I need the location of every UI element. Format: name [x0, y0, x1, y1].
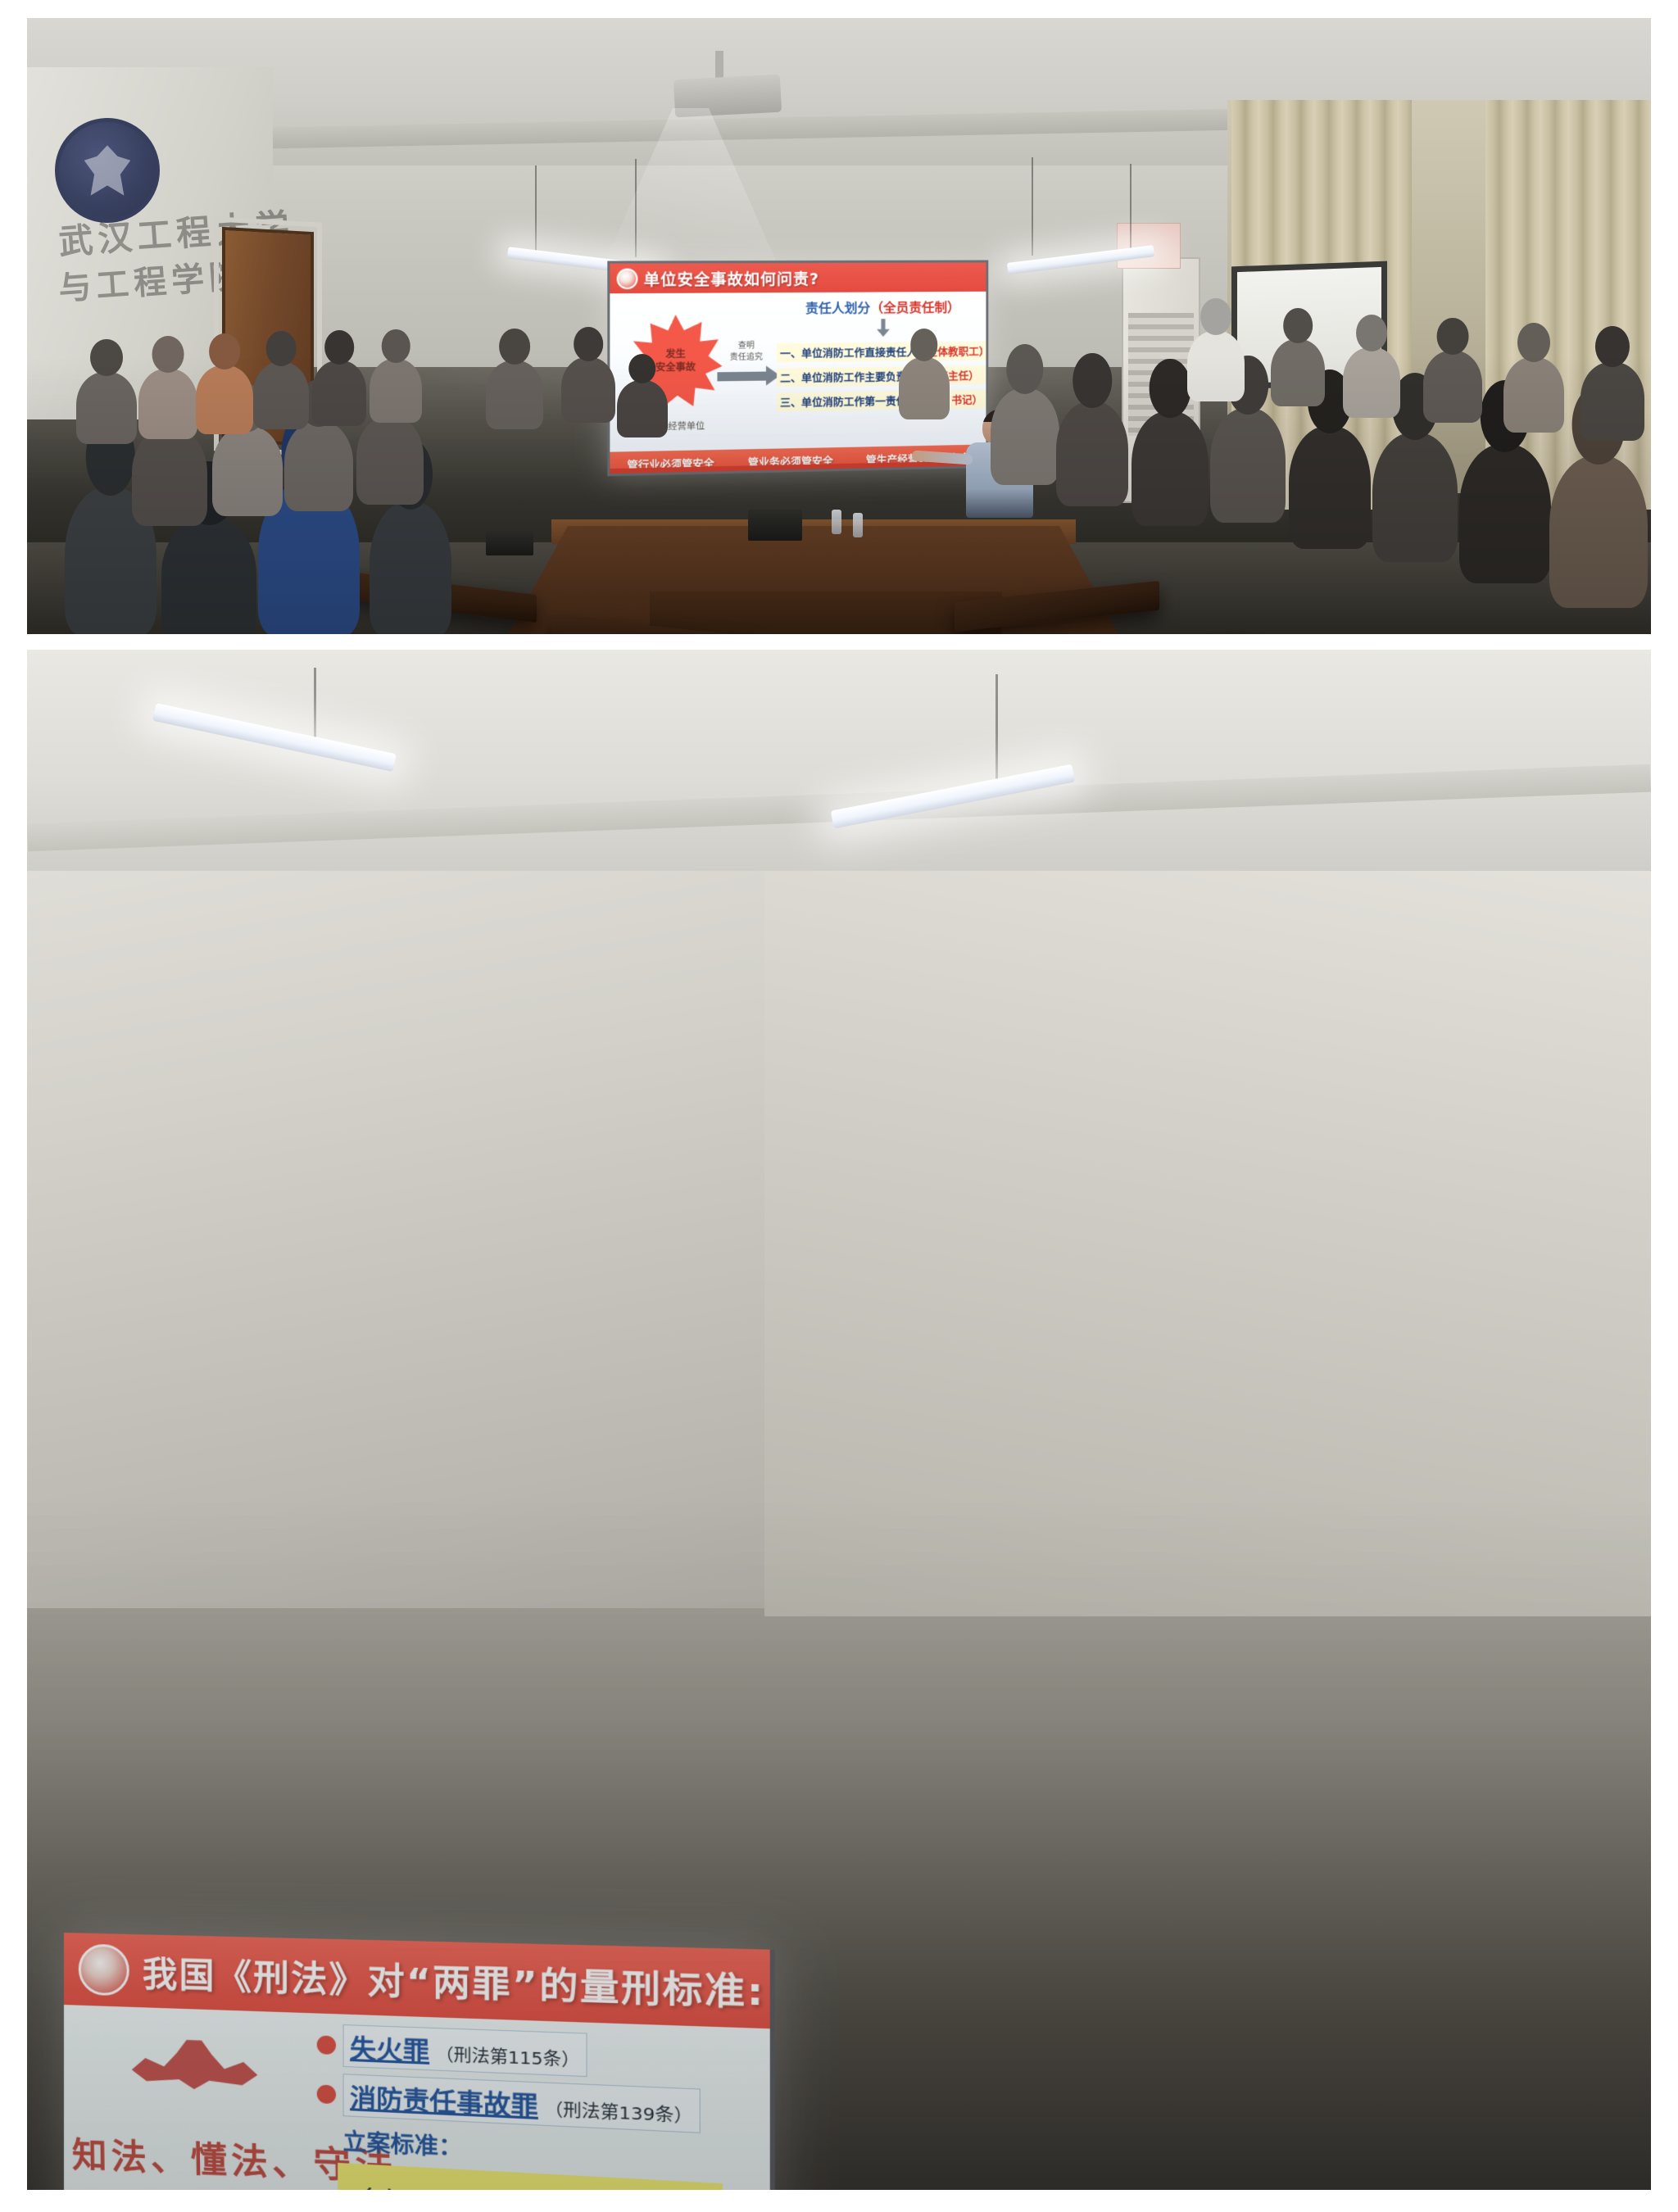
bullet-dot-icon: [317, 2035, 336, 2055]
burst-line-1: 发生: [665, 348, 686, 361]
audience-member: [132, 428, 207, 526]
item-index: 二、: [780, 373, 801, 385]
bullet-dot-icon: [317, 2084, 336, 2104]
crime-box: 失火罪 （刑法第115条）: [343, 2024, 587, 2077]
slide-body: 知法、懂法、守法 失火罪 （刑法第115条） 消防责任事故罪: [64, 2005, 770, 2190]
crime-name: 失火罪: [350, 2027, 429, 2068]
crime-law: （刑法第115条）: [436, 2041, 580, 2072]
audience-member: [1580, 362, 1644, 441]
red-seal-icon: [132, 2030, 258, 2112]
audience-member: [370, 501, 451, 634]
audience-member: [561, 357, 615, 423]
heading-main: 责任人划分: [805, 300, 870, 315]
fire-emblem-icon: [617, 268, 638, 289]
audience-member: [284, 421, 353, 511]
slide-title-bar: 单位安全事故如何问责?: [610, 262, 986, 293]
audience-member: [212, 426, 283, 516]
list-item: 二、单位消防工作主要负责人（分管主任）: [777, 365, 987, 387]
slide-title: 单位安全事故如何问责?: [644, 266, 819, 289]
burst-line-2: 安全事故: [655, 360, 696, 374]
water-bottle: [832, 510, 841, 534]
list-item: 一、单位消防工作直接责任人（全体教职工）: [777, 342, 987, 363]
audience-member: [196, 365, 253, 434]
audience-member: [899, 357, 950, 419]
audience-member: [1372, 433, 1458, 562]
audience-member: [1549, 456, 1648, 608]
audience-member: [617, 380, 668, 437]
audience-member: [1343, 347, 1400, 418]
audience-member: [1503, 357, 1564, 433]
right-wall: [764, 797, 1651, 1616]
audience-member: [138, 369, 197, 439]
audience-member: [1187, 331, 1245, 401]
audience-member: [253, 362, 309, 429]
audience-member: [1423, 351, 1482, 423]
crime-panel: 失火罪 （刑法第115条） 消防责任事故罪 （刑法第139条） 立案标准： （1: [317, 2024, 769, 2190]
monitor: [486, 531, 533, 555]
crime-box: 消防责任事故罪 （刑法第139条）: [343, 2074, 701, 2133]
arrow-label: 查明 责任追究: [720, 340, 771, 364]
lamp-wire: [314, 668, 316, 746]
university-crest-icon: [55, 118, 160, 223]
list-heading: 责任人划分（全员责任制）: [777, 297, 987, 318]
list-item: 三、单位消防工作第一责任人（院长 书记）: [777, 390, 987, 412]
training-photo-top: 武汉工程大学 与工程学院 单位安全事故如何问责? 发生: [27, 18, 1651, 634]
audience-member: [1132, 411, 1209, 526]
audience-member: [1056, 401, 1128, 506]
photo-collage-page: 武汉工程大学 与工程学院 单位安全事故如何问责? 发生: [0, 0, 1678, 2212]
right-arrow-icon: [717, 372, 767, 382]
projection-slide-bottom: 我国《刑法》对“两罪”的量刑标准: 知法、懂法、守法 失火罪 （刑法第115条）: [64, 1933, 775, 2190]
audience-member: [1210, 408, 1286, 523]
audience-member: [312, 360, 366, 426]
audience-member: [1459, 444, 1551, 583]
training-photo-bottom: 我国《刑法》对“两罪”的量刑标准: 知法、懂法、守法 失火罪 （刑法第115条）: [27, 650, 1651, 2190]
audience-member: [370, 359, 422, 423]
calligraphy-text: 知法、懂法、守法: [71, 2127, 320, 2187]
criterion-item: （1）死亡一人，重伤三人；: [350, 2182, 709, 2190]
audience-member: [486, 360, 543, 429]
lamp-wire: [535, 165, 537, 257]
lamp-wire: [1130, 164, 1132, 257]
audience-member: [76, 372, 137, 444]
photo-separator: [0, 634, 1678, 650]
audience-member: [1271, 339, 1325, 406]
audience-member: [161, 518, 256, 634]
arrow-label-line-2: 责任追究: [720, 351, 771, 364]
audience-member: [1289, 426, 1371, 549]
audience-member: [991, 388, 1059, 485]
audience-member: [356, 416, 424, 505]
conference-table-front: [650, 592, 1002, 634]
item-index: 三、: [780, 397, 801, 410]
arrow-label-line-1: 查明: [720, 340, 771, 352]
lamp-wire: [1032, 157, 1033, 256]
item-text: 单位消防工作直接责任人: [801, 347, 917, 360]
fire-emblem-icon: [79, 1943, 129, 1996]
calligraphy-panel: 知法、懂法、守法: [72, 2028, 320, 2190]
heading-paren: （全员责任制）: [870, 300, 959, 316]
lamp-wire: [995, 674, 998, 791]
crime-name: 消防责任事故罪: [350, 2077, 538, 2124]
monitor: [748, 510, 802, 541]
slide-title: 我国《刑法》对“两罪”的量刑标准:: [143, 1946, 765, 2016]
water-bottle: [853, 513, 863, 537]
responsibility-list: 责任人划分（全员责任制） 一、单位消防工作直接责任人（全体教职工） 二、单位消防…: [777, 297, 987, 418]
crime-law: （刑法第139条）: [545, 2096, 693, 2128]
down-arrow-icon: [877, 319, 890, 337]
item-index: 一、: [780, 348, 801, 360]
